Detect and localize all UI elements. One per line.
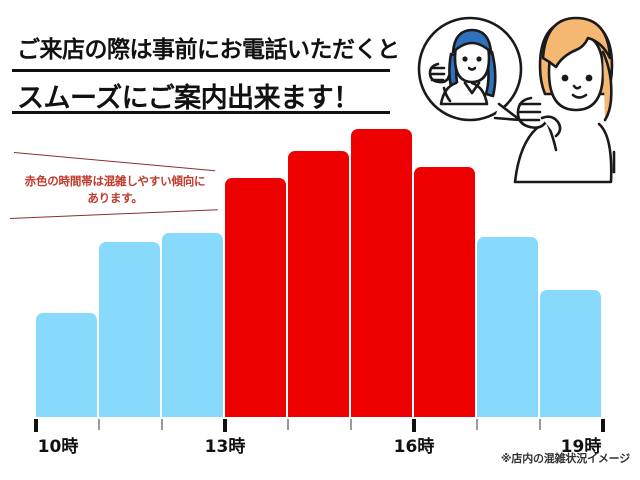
bar-16時 — [414, 167, 475, 417]
bar-12時 — [162, 233, 223, 417]
bar-14時 — [288, 151, 349, 417]
axis-tick-8 — [539, 419, 541, 430]
axis-tick-1 — [98, 419, 100, 430]
bar-10時 — [36, 313, 97, 417]
bar-11時 — [99, 242, 160, 417]
axis-tick-0 — [34, 419, 38, 432]
bar-17時 — [477, 237, 538, 417]
axis-label-16時: 16時 — [394, 432, 435, 457]
bar-13時 — [225, 178, 286, 417]
phone-call-illustration — [404, 2, 640, 198]
congestion-infographic: ご来店の際は事前にお電話いただくと スムーズにご案内出来ます！ 赤色の時間帯は混… — [0, 0, 640, 480]
customer-figure — [515, 18, 614, 182]
axis-tick-7 — [476, 419, 478, 430]
axis-tick-3 — [223, 419, 227, 432]
chart-footnote: ※店内の混雑状況イメージ — [501, 450, 630, 466]
axis-label-10時: 10時 — [38, 432, 79, 457]
axis-tick-9 — [601, 419, 605, 432]
bar-15時 — [351, 129, 412, 417]
axis-tick-5 — [350, 419, 352, 430]
axis-label-13時: 13時 — [205, 432, 246, 457]
axis-tick-6 — [412, 419, 416, 432]
axis-tick-4 — [287, 419, 289, 430]
axis-tick-2 — [161, 419, 163, 430]
chart-baseline — [0, 417, 640, 419]
bar-18時 — [540, 290, 601, 417]
